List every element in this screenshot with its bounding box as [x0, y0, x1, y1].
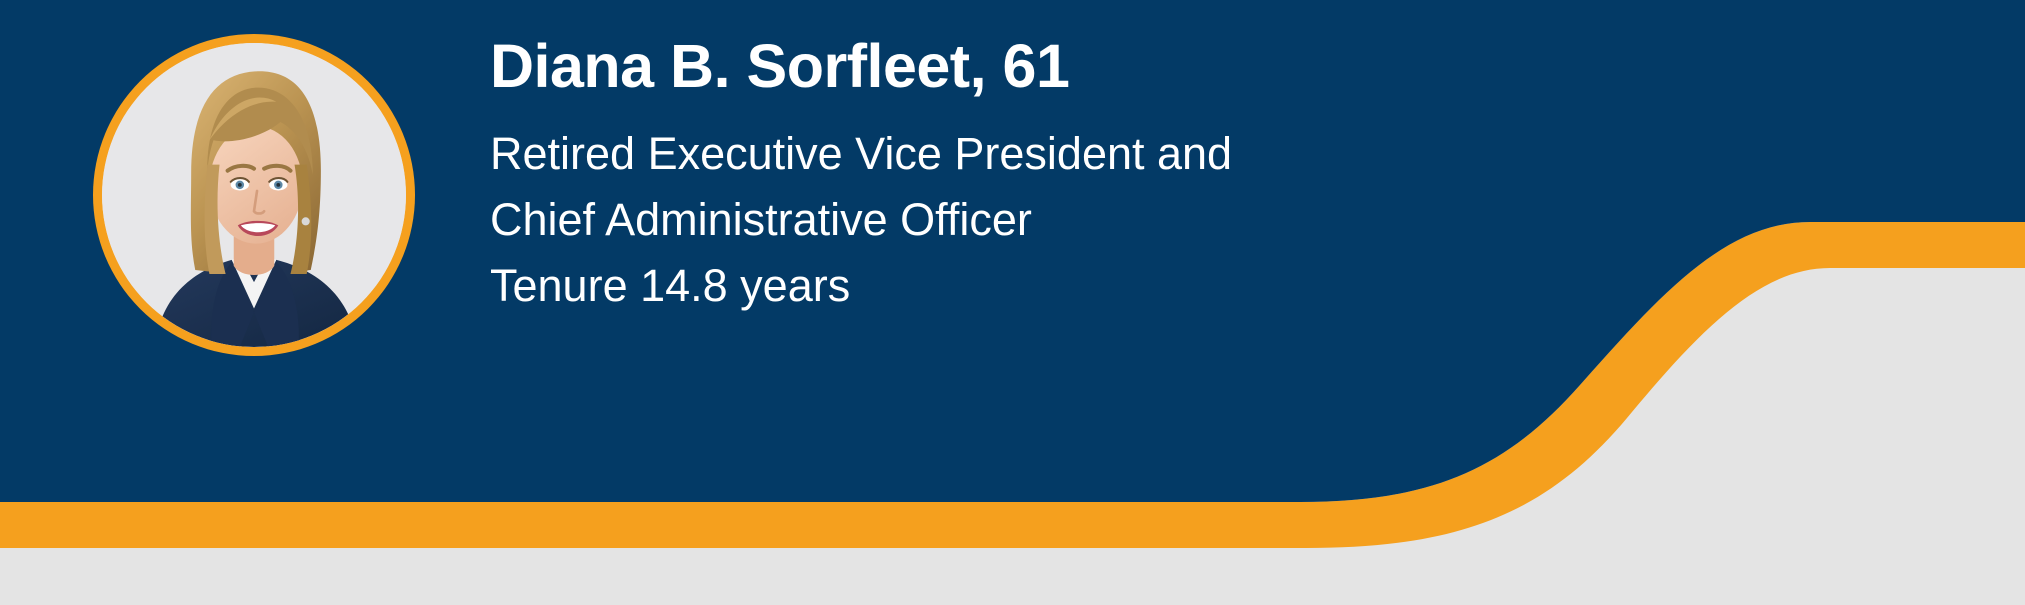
role-line-2: Chief Administrative Officer: [490, 187, 1640, 253]
page-title: Diana B. Sorfleet, 61: [490, 34, 1640, 99]
tenure-text: Tenure 14.8 years: [490, 253, 1640, 319]
portrait-frame: [102, 43, 406, 347]
director-profile-card: Diana B. Sorfleet, 61 Retired Executive …: [0, 0, 2025, 605]
role-line-1: Retired Executive Vice President and: [490, 121, 1640, 187]
portrait-ring: [93, 34, 415, 356]
person-text-block: Diana B. Sorfleet, 61 Retired Executive …: [490, 34, 1640, 319]
person-portrait-photo-icon: [102, 43, 406, 347]
